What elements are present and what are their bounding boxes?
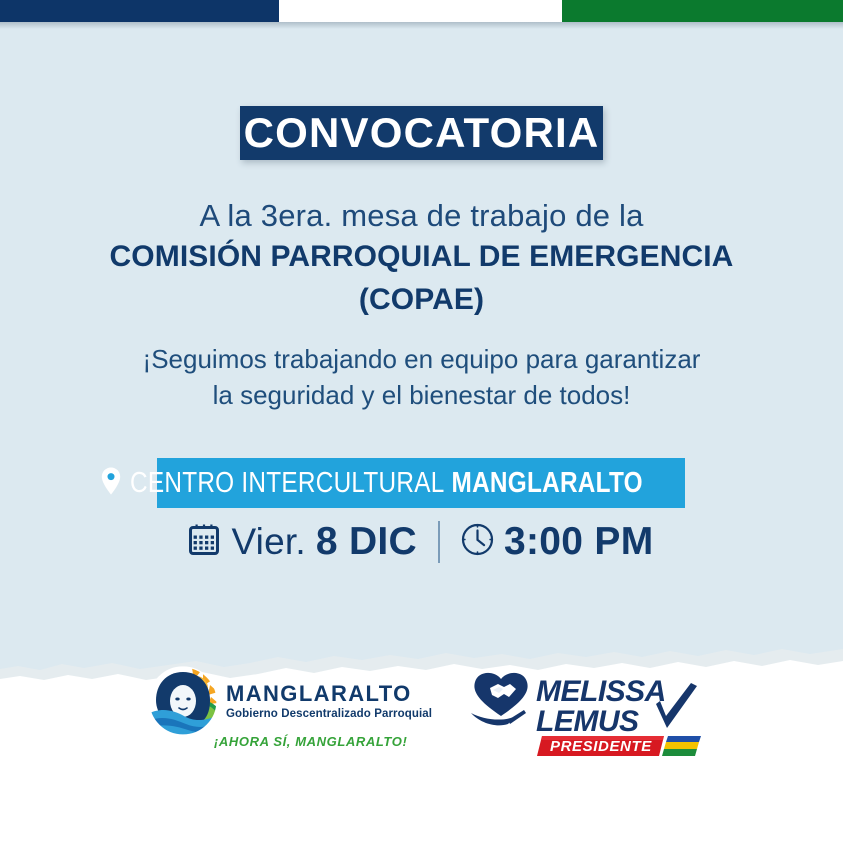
time-value: 3:00 PM <box>504 520 654 564</box>
heading-block: A la 3era. mesa de trabajo de la COMISIÓ… <box>0 196 843 322</box>
date-group: Vier. 8 DIC <box>189 520 417 564</box>
page-title: CONVOCATORIA <box>244 112 600 154</box>
manglaralto-logo: MANGLARALTO Gobierno Descentralizado Par… <box>148 666 432 741</box>
clock-icon <box>461 523 494 561</box>
heading-line-3: (COPAE) <box>0 278 843 322</box>
melissa-last-name: LEMUS <box>536 705 639 738</box>
top-color-bar <box>0 0 843 22</box>
topbar-segment-blue <box>0 0 279 22</box>
location-place: MANGLARALTO <box>452 467 643 499</box>
poster-canvas: CONVOCATORIA A la 3era. mesa de trabajo … <box>0 0 843 843</box>
heading-line-2: COMISIÓN PARROQUIAL DE EMERGENCIA <box>0 236 843 278</box>
datetime-separator <box>438 521 440 563</box>
melissa-first-name: MELISSA <box>536 675 666 708</box>
location-bar: CENTRO INTERCULTURAL MANGLARALTO <box>157 458 685 508</box>
top-bar-shadow <box>0 22 843 29</box>
tagline-line-1: ¡Seguimos trabajando en equipo para gara… <box>0 341 843 377</box>
melissa-lemus-logo: MELISSA LEMUS PRESIDENTE <box>468 668 703 768</box>
manglaralto-emblem-icon <box>148 666 218 741</box>
title-badge: CONVOCATORIA <box>240 106 603 160</box>
topbar-segment-white <box>279 0 562 22</box>
manglaralto-slogan: ¡AHORA SÍ, MANGLARALTO! <box>214 734 407 749</box>
calendar-icon <box>189 523 221 561</box>
manglaralto-subtitle: Gobierno Descentralizado Parroquial <box>226 706 432 722</box>
map-pin-icon <box>101 467 121 500</box>
datetime-row: Vier. 8 DIC 3:00 PM <box>0 520 843 564</box>
presidente-ribbon: PRESIDENTE <box>537 736 701 756</box>
manglaralto-name: MANGLARALTO <box>226 682 432 706</box>
location-prefix: CENTRO INTERCULTURAL <box>130 467 445 499</box>
tagline-line-2: la seguridad y el bienestar de todos! <box>0 377 843 413</box>
date-value: 8 DIC <box>316 520 417 564</box>
time-group: 3:00 PM <box>461 520 654 564</box>
svg-text:PRESIDENTE: PRESIDENTE <box>550 738 652 755</box>
heart-handshake-icon <box>471 673 528 725</box>
topbar-segment-green <box>562 0 843 22</box>
heading-line-1: A la 3era. mesa de trabajo de la <box>0 196 843 236</box>
footer-logos: MANGLARALTO Gobierno Descentralizado Par… <box>0 658 843 843</box>
tagline-block: ¡Seguimos trabajando en equipo para gara… <box>0 341 843 413</box>
date-day-label: Vier. <box>231 521 305 563</box>
location-text: CENTRO INTERCULTURAL MANGLARALTO <box>130 467 643 500</box>
